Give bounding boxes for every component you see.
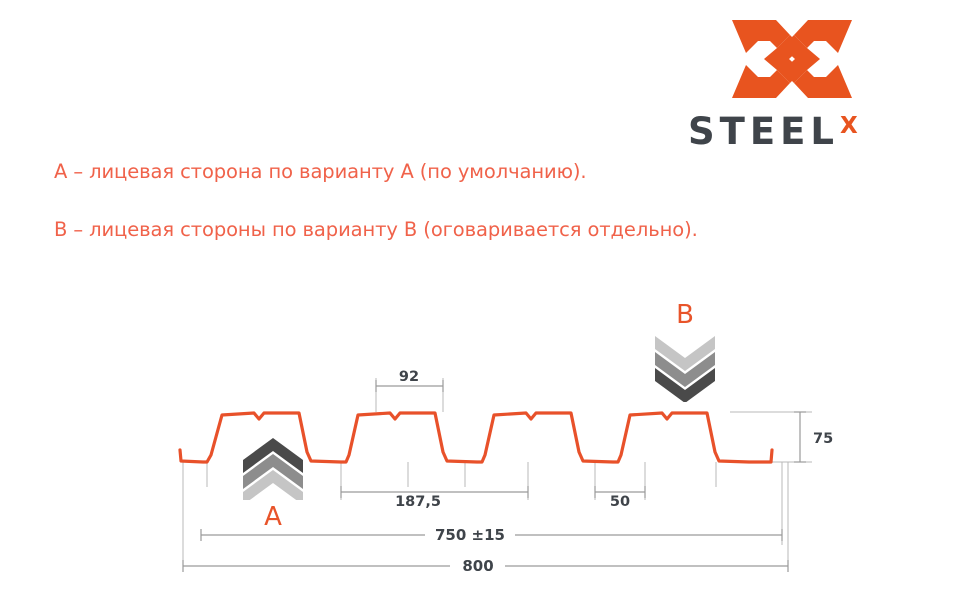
- dimension-92-label: 92: [399, 369, 419, 385]
- dimension-75-label: 75: [813, 431, 833, 447]
- marker-side-b: В: [652, 302, 718, 402]
- dimension-92: 92: [376, 369, 443, 392]
- dimension-187-5: 187,5: [341, 486, 528, 510]
- dimension-750-label: 750 ±15: [435, 526, 505, 544]
- dimension-50-label: 50: [610, 494, 630, 510]
- marker-a-letter: А: [240, 502, 306, 532]
- dimension-50: 50: [595, 486, 645, 510]
- dimension-800-label: 800: [462, 557, 493, 575]
- dimension-75: 75: [794, 412, 833, 462]
- marker-side-a: А: [240, 438, 306, 534]
- chevron-down-stack-icon: [652, 336, 718, 402]
- profile-technical-drawing: 92 187,5 50 750 ±15 800 75: [0, 0, 970, 597]
- dimension-800: 800: [183, 557, 788, 575]
- dimension-187-5-label: 187,5: [395, 494, 441, 510]
- marker-b-letter: В: [652, 300, 718, 330]
- chevron-up-stack-icon: [240, 438, 306, 500]
